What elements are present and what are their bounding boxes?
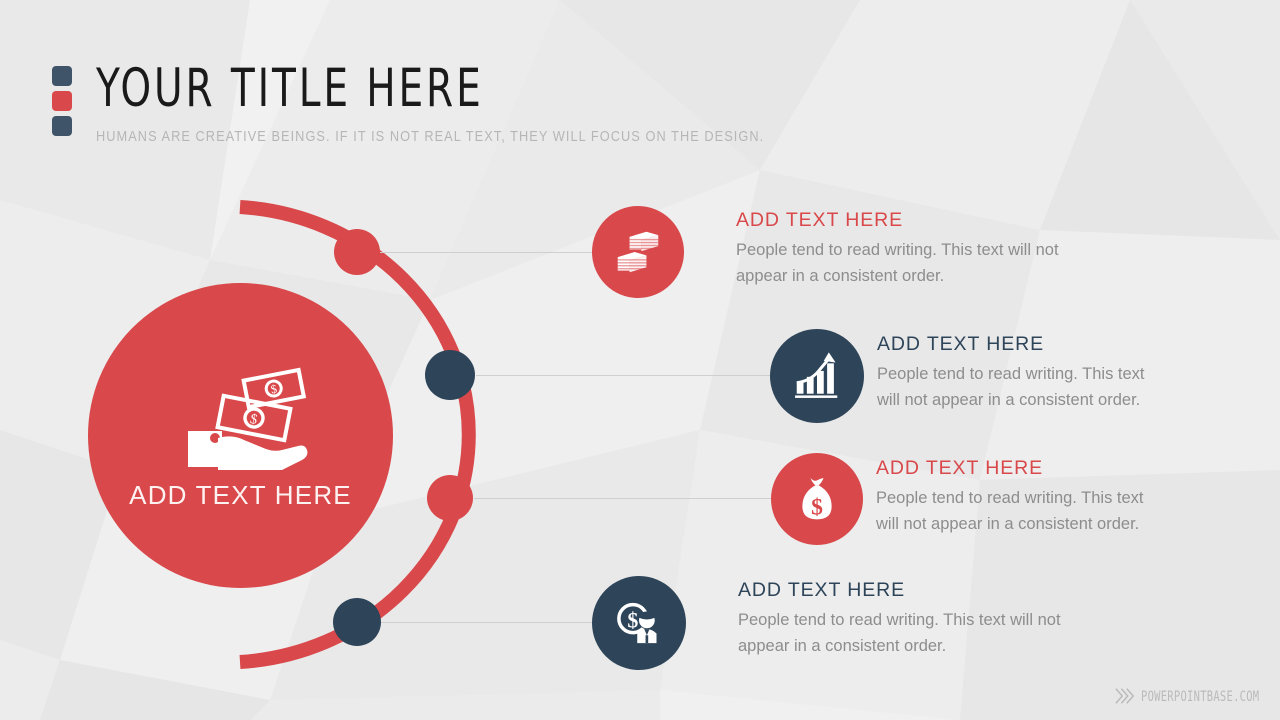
center-circle[interactable]: $ $ ADD TEXT HERE — [88, 283, 393, 588]
item-2-body-line-2: will not appear in a consistent order. — [877, 388, 1145, 414]
chevron-logo-icon — [1114, 686, 1136, 706]
arc-node-2 — [425, 350, 475, 400]
item-3-icon-circle[interactable]: $ — [771, 453, 863, 545]
info-item-4[interactable]: $ ADD TEXT HERE People tend to read writ… — [592, 576, 1061, 670]
bar-chart-growth-icon — [790, 349, 844, 403]
item-3-body: People tend to read writing. This text w… — [876, 486, 1144, 537]
arc-node-3 — [427, 475, 473, 521]
item-2-title: ADD TEXT HERE — [877, 334, 1145, 355]
slide-canvas: YOUR TITLE HERE HUMANS ARE CREATIVE BEIN… — [0, 0, 1280, 720]
item-4-body-line-1: People tend to read writing. This text w… — [738, 608, 1061, 634]
item-1-icon-circle[interactable] — [592, 206, 684, 298]
item-4-title: ADD TEXT HERE — [738, 580, 1061, 601]
connector-line-4 — [381, 622, 595, 623]
hand-receiving-money-icon: $ $ — [166, 360, 316, 470]
item-3-body-line-1: People tend to read writing. This text — [876, 486, 1144, 512]
item-1-title: ADD TEXT HERE — [736, 210, 1059, 231]
connector-line-1 — [380, 252, 595, 253]
info-item-3[interactable]: $ ADD TEXT HERE People tend to read writ… — [771, 453, 1144, 545]
item-2-body-line-1: People tend to read writing. This text — [877, 362, 1145, 388]
item-1-body-line-2: appear in a consistent order. — [736, 264, 1059, 290]
center-label: ADD TEXT HERE — [129, 480, 352, 511]
connector-line-2 — [476, 375, 772, 376]
item-1-body: People tend to read writing. This text w… — [736, 238, 1059, 289]
item-3-title: ADD TEXT HERE — [876, 458, 1144, 479]
arc-node-4 — [333, 598, 381, 646]
item-3-body-line-2: will not appear in a consistent order. — [876, 512, 1144, 538]
item-1-body-line-1: People tend to read writing. This text w… — [736, 238, 1059, 264]
watermark-text: POWERPOINTBASE.COM — [1141, 688, 1259, 704]
item-2-icon-circle[interactable] — [770, 329, 864, 423]
item-4-body-line-2: appear in a consistent order. — [738, 634, 1061, 660]
svg-text:$: $ — [627, 608, 638, 632]
watermark: POWERPOINTBASE.COM — [1114, 686, 1266, 706]
svg-text:$: $ — [269, 382, 278, 397]
info-item-1[interactable]: ADD TEXT HERE People tend to read writin… — [592, 206, 1059, 298]
money-stacks-icon — [611, 225, 665, 279]
svg-text:$: $ — [811, 494, 823, 520]
connector-line-3 — [474, 498, 772, 499]
item-4-icon-circle[interactable]: $ — [592, 576, 686, 670]
item-2-body: People tend to read writing. This text w… — [877, 362, 1145, 413]
item-4-body: People tend to read writing. This text w… — [738, 608, 1061, 659]
arc-node-1 — [334, 229, 380, 275]
money-bag-icon: $ — [791, 473, 843, 525]
info-item-2[interactable]: ADD TEXT HERE People tend to read writin… — [770, 329, 1145, 423]
businessman-dollar-icon: $ — [611, 595, 667, 651]
